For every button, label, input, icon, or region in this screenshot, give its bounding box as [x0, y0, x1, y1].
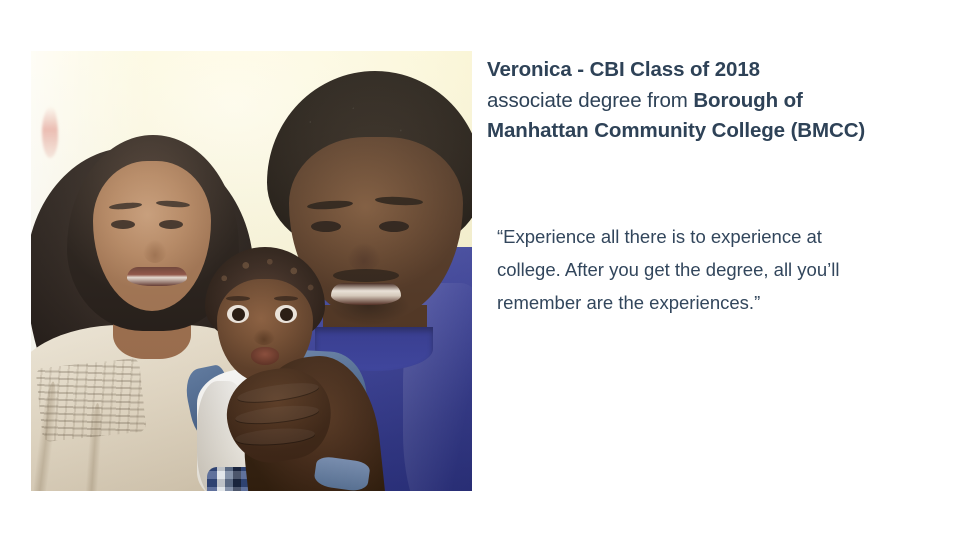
baby-nose [253, 327, 275, 345]
baby-eyebrow-left [226, 296, 250, 301]
student-quote: “Experience all there is to experience a… [497, 220, 937, 319]
woman-nose [143, 237, 167, 263]
man-eye-left [311, 221, 341, 232]
headline-line-2-bold: Borough of [693, 89, 802, 112]
headline-line-1: Veronica - CBI Class of 2018 [487, 58, 760, 81]
photo-stage [31, 51, 472, 491]
family-photo [31, 51, 472, 491]
man-mustache [333, 269, 399, 282]
woman-eye-left [111, 220, 135, 229]
wall-smudge-mark [42, 106, 58, 158]
headline-line-2-plain: associate degree from [487, 89, 693, 112]
text-column: Veronica - CBI Class of 2018associate de… [487, 55, 935, 147]
woman-eye-right [159, 220, 183, 229]
woman-blouse-lace [35, 358, 146, 442]
woman-smile [127, 267, 187, 286]
baby-pupil-left [232, 308, 245, 321]
quote-line-2: college. After you get the degree, all y… [497, 259, 839, 280]
headline: Veronica - CBI Class of 2018associate de… [487, 55, 935, 147]
quote-line-3: remember are the experiences.” [497, 292, 760, 313]
headline-line-3: Manhattan Community College (BMCC) [487, 119, 865, 142]
baby-pupil-right [280, 308, 293, 321]
baby-eyebrow-right [274, 296, 298, 301]
man-nose [347, 239, 381, 271]
baby-mouth [251, 347, 279, 365]
man-smile [331, 283, 401, 305]
slide: Veronica - CBI Class of 2018associate de… [0, 0, 960, 540]
man-eye-right [379, 221, 409, 232]
quote-line-1: “Experience all there is to experience a… [497, 226, 822, 247]
